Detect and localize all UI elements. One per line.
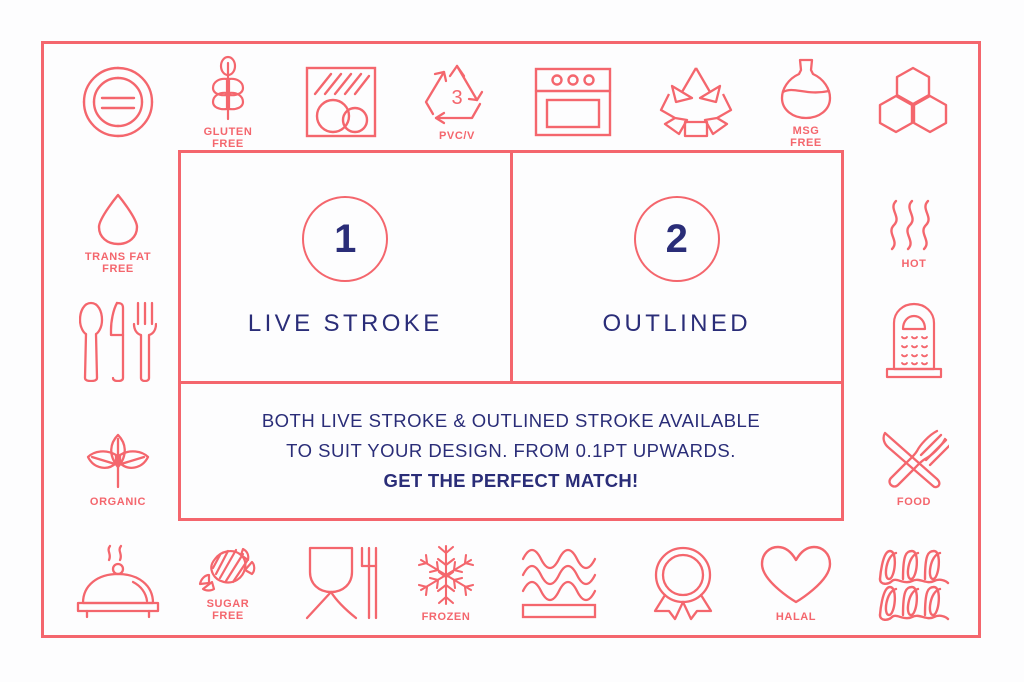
recycle-arrows-icon [655, 64, 737, 140]
blurb-line-3: GET THE PERFECT MATCH! [384, 466, 639, 496]
icon-caption: FROZEN [422, 611, 471, 623]
waves-grill-icon [519, 547, 601, 619]
icon-msg-free[interactable]: MSG FREE [760, 52, 852, 152]
icon-caption: ORGANIC [90, 496, 146, 508]
panel-number: 1 [334, 219, 356, 259]
stroke-type-panels: 1 LIVE STROKE 2 OUTLINED [181, 153, 841, 381]
steam-hot-icon [884, 197, 944, 253]
icon-gluten-free[interactable]: GLUTEN FREE [182, 52, 274, 152]
icon-caption: FOOD [897, 496, 931, 508]
icon-grater[interactable] [860, 295, 968, 387]
oven-icon [531, 64, 615, 140]
grater-icon [881, 301, 947, 381]
panel-live-stroke[interactable]: 1 LIVE STROKE [181, 153, 510, 381]
icon-grill-waves[interactable] [512, 536, 608, 630]
icon-caption: HALAL [776, 611, 816, 623]
icon-target-equals[interactable] [68, 52, 168, 152]
poster-canvas: GLUTEN FREE [0, 0, 1024, 682]
icon-sugar-free[interactable]: SUGAR FREE [182, 536, 274, 630]
award-rosette-icon [647, 545, 719, 621]
panel-number-badge-1: 1 [302, 196, 388, 282]
noodles-loops-icon [876, 545, 952, 621]
icon-caption: SUGAR FREE [207, 598, 250, 622]
heart-halal-icon [758, 544, 834, 606]
glass-fork-food-safe-icon [302, 544, 380, 622]
icon-caption: MSG FREE [790, 125, 822, 149]
target-equals-icon [79, 63, 157, 141]
icon-food[interactable]: FOOD [860, 420, 968, 516]
icon-caption: TRANS FAT FREE [85, 251, 151, 275]
icon-caption: GLUTEN FREE [204, 126, 253, 150]
icon-dishwasher-safe[interactable] [295, 52, 387, 152]
honeycomb-hexagons-icon [872, 62, 954, 142]
crossed-knife-fork-food-icon [879, 429, 949, 491]
cutlery-spoon-knife-fork-icon [79, 300, 157, 382]
icon-award-rosette[interactable] [635, 536, 731, 630]
icon-oven[interactable] [525, 52, 621, 152]
pvc-number: 3 [451, 87, 462, 109]
icon-trans-fat-free[interactable]: TRANS FAT FREE [64, 185, 172, 281]
icon-hot[interactable]: HOT [860, 185, 968, 281]
panel-number-badge-2: 2 [634, 196, 720, 282]
icon-organic[interactable]: ORGANIC [64, 420, 172, 516]
dishwasher-safe-icon [303, 64, 379, 140]
icon-frozen[interactable]: FROZEN [400, 536, 492, 630]
icon-recycle[interactable] [648, 52, 744, 152]
leaf-organic-icon [82, 429, 154, 491]
icon-cloche[interactable] [64, 536, 172, 630]
panel-label-live-stroke: LIVE STROKE [248, 310, 443, 338]
panel-label-outlined: OUTLINED [602, 310, 751, 338]
icon-cutlery[interactable] [64, 295, 172, 387]
wheat-gluten-free-icon [201, 55, 255, 121]
candy-sugar-free-icon [195, 545, 261, 593]
icon-noodles[interactable] [860, 536, 968, 630]
droplet-trans-fat-free-icon [96, 192, 140, 246]
blurb-line-1: BOTH LIVE STROKE & OUTLINED STROKE AVAIL… [262, 406, 760, 436]
icon-food-safe-glass-fork[interactable] [293, 536, 389, 630]
icon-caption: PVC/V [439, 130, 475, 142]
icon-caption: HOT [901, 258, 926, 270]
blurb-panel: BOTH LIVE STROKE & OUTLINED STROKE AVAIL… [181, 381, 841, 518]
snowflake-frozen-icon [414, 544, 478, 606]
panel-outlined[interactable]: 2 OUTLINED [510, 153, 842, 381]
blurb-line-2: TO SUIT YOUR DESIGN. FROM 0.1PT UPWARDS. [286, 436, 736, 466]
panel-number: 2 [666, 219, 688, 259]
cloche-serving-dome-icon [75, 543, 161, 623]
icon-honeycomb[interactable] [865, 52, 961, 152]
center-block: 1 LIVE STROKE 2 OUTLINED BOTH LIVE STROK… [178, 150, 844, 521]
icon-halal[interactable]: HALAL [748, 536, 844, 630]
recycle-pvc-3-icon: 3 [420, 62, 494, 128]
bottle-msg-free-icon [776, 56, 836, 120]
icon-pvc-recycle[interactable]: 3 PVC/V [408, 52, 506, 152]
